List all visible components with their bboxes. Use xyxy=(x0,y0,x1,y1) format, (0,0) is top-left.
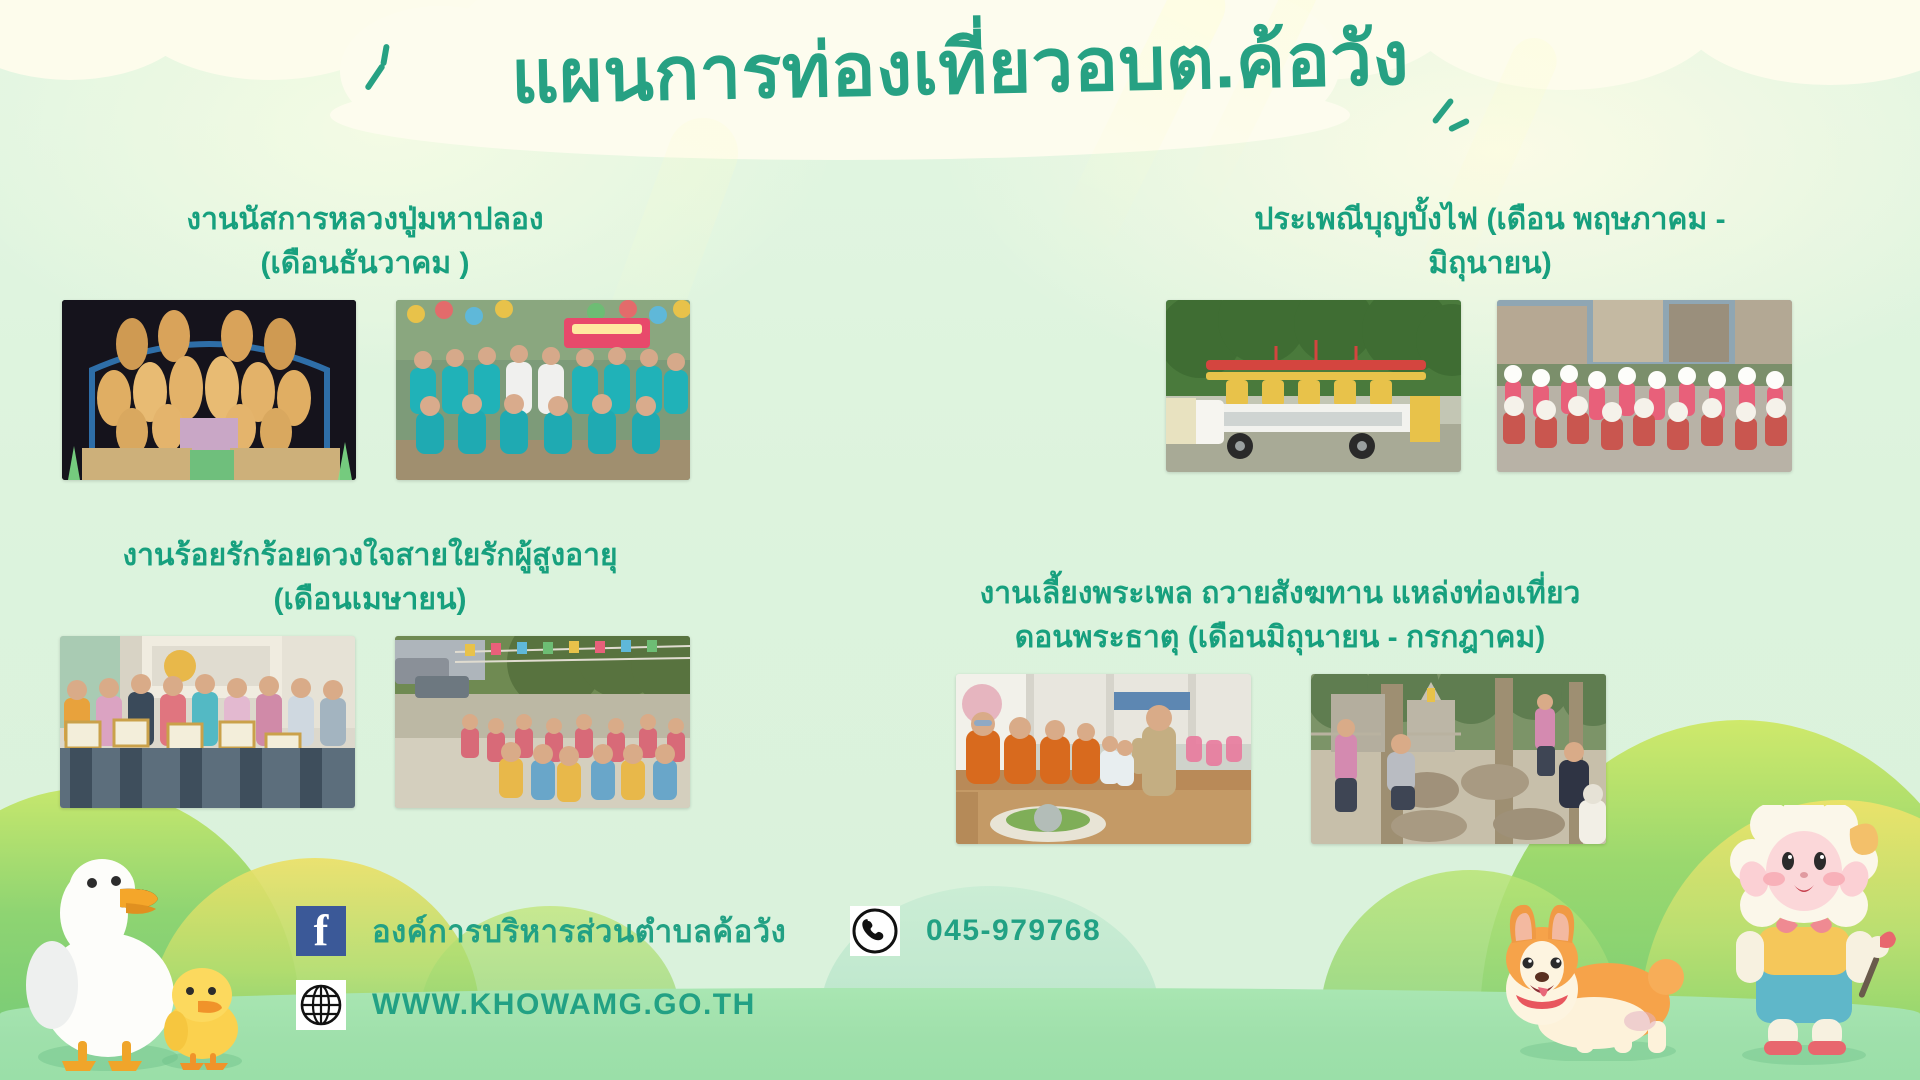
section-photo-row xyxy=(956,674,1690,844)
section-photo-row xyxy=(62,300,690,480)
facebook-page-name: องค์การบริหารส่วนตำบลค้อวัง xyxy=(372,906,786,956)
section-heading-line2: (เดือนธันวาคม ) xyxy=(40,242,690,286)
section-heading-line1: งานร้อยรักร้อยดวงใจสายใยรักผู้สูงอายุ xyxy=(20,534,720,578)
section-heading-line1: งานนัสการหลวงปู่มหาปลอง xyxy=(40,198,690,242)
section-heading-line1: ประเพณีบุญบั้งไฟ (เดือน พฤษภาคม - xyxy=(1130,198,1850,242)
photo-monks-alms[interactable] xyxy=(956,674,1251,844)
photo-rocket-float[interactable] xyxy=(1166,300,1461,472)
title-tick-left xyxy=(364,63,386,91)
section-bunbangfai: ประเพณีบุญบั้งไฟ (เดือน พฤษภาคม - มิถุนา… xyxy=(1130,198,1850,472)
section-heading-line2: มิถุนายน) xyxy=(1130,242,1850,286)
section-photo-row xyxy=(60,636,720,808)
phone-number: 045-979768 xyxy=(926,914,1101,948)
section-heading-line2: ดอนพระธาตุ (เดือนมิถุนายน - กรกฎาคม) xyxy=(870,616,1690,660)
poster-title-area: แผนการท่องเที่ยวอบต.ค้อวัง xyxy=(0,18,1920,128)
photo-elder-certificates[interactable] xyxy=(60,636,355,808)
contact-phone-block: 045-979768 xyxy=(850,906,1270,956)
section-liangphraphen: งานเลี้ยงพระเพล ถวายสังฆทาน แหล่งท่องเที… xyxy=(870,572,1690,844)
phone-icon[interactable] xyxy=(850,906,900,956)
sheep-costume-kid-illustration xyxy=(1700,805,1910,1070)
globe-icon[interactable] xyxy=(296,980,346,1030)
page-title: แผนการท่องเที่ยวอบต.ค้อวัง xyxy=(510,9,1410,128)
section-photo-row xyxy=(1166,300,1850,472)
title-tick-right xyxy=(1431,97,1454,124)
photo-group-teal-shirts[interactable] xyxy=(396,300,690,480)
facebook-icon[interactable]: f xyxy=(296,906,346,956)
photo-parade-dancers[interactable] xyxy=(1497,300,1792,472)
photo-lantern-pavilion[interactable] xyxy=(62,300,356,480)
website-url: WWW.KHOWAMG.GO.TH xyxy=(372,988,756,1022)
corgi-illustration xyxy=(1490,881,1700,1066)
contact-phone-row[interactable]: 045-979768 xyxy=(850,906,1270,956)
section-heading-line1: งานเลี้ยงพระเพล ถวายสังฆทาน แหล่งท่องเที… xyxy=(870,572,1690,616)
duckling-illustration xyxy=(146,951,256,1076)
photo-elder-gathering[interactable] xyxy=(395,636,690,808)
contact-website-row[interactable]: WWW.KHOWAMG.GO.TH xyxy=(296,980,1136,1030)
section-heading-line2: (เดือนเมษายน) xyxy=(20,578,720,622)
section-roiruk: งานร้อยรักร้อยดวงใจสายใยรักผู้สูงอายุ (เ… xyxy=(20,534,720,808)
title-tick-left2 xyxy=(380,44,390,67)
photo-donphrathat[interactable] xyxy=(1311,674,1606,844)
section-nammatsakan: งานนัสการหลวงปู่มหาปลอง (เดือนธันวาคม ) xyxy=(40,198,690,480)
